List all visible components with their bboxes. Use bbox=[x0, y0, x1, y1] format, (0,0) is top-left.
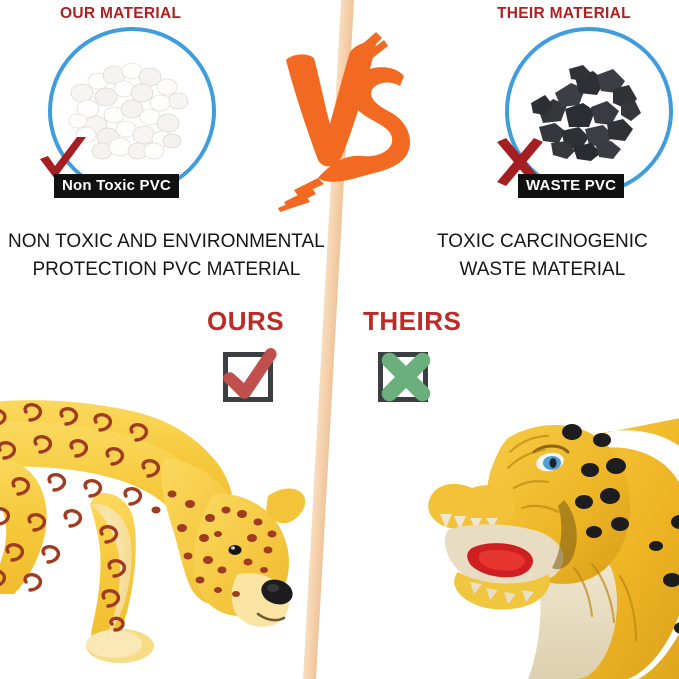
vs-brush-icon bbox=[272, 32, 414, 212]
our-material-description: NON TOXIC AND ENVIRONMENTAL PROTECTION P… bbox=[8, 228, 325, 283]
verdict-label-ours: OURS bbox=[207, 306, 284, 337]
infographic-canvas: OUR MATERIAL bbox=[0, 0, 679, 679]
their-leopard-toy-figurine bbox=[424, 396, 679, 679]
our-description-line2: PROTECTION PVC MATERIAL bbox=[8, 256, 325, 284]
our-material-header: OUR MATERIAL bbox=[60, 5, 181, 23]
verdict-checkbox-theirs bbox=[378, 352, 428, 402]
our-material-caption-banner: Non Toxic PVC bbox=[54, 174, 179, 198]
their-description-line2: WASTE MATERIAL bbox=[437, 256, 648, 284]
their-description-line1: TOXIC CARCINOGENIC bbox=[437, 231, 648, 252]
their-material-header: THEIR MATERIAL bbox=[497, 5, 631, 23]
verdict-label-theirs: THEIRS bbox=[363, 306, 461, 337]
their-material-description: TOXIC CARCINOGENIC WASTE MATERIAL bbox=[437, 228, 648, 283]
verdict-checkbox-ours bbox=[223, 352, 273, 402]
their-material-caption-banner: WASTE PVC bbox=[518, 174, 624, 198]
our-description-line1: NON TOXIC AND ENVIRONMENTAL bbox=[8, 231, 325, 252]
our-leopard-toy-figurine bbox=[0, 398, 306, 679]
